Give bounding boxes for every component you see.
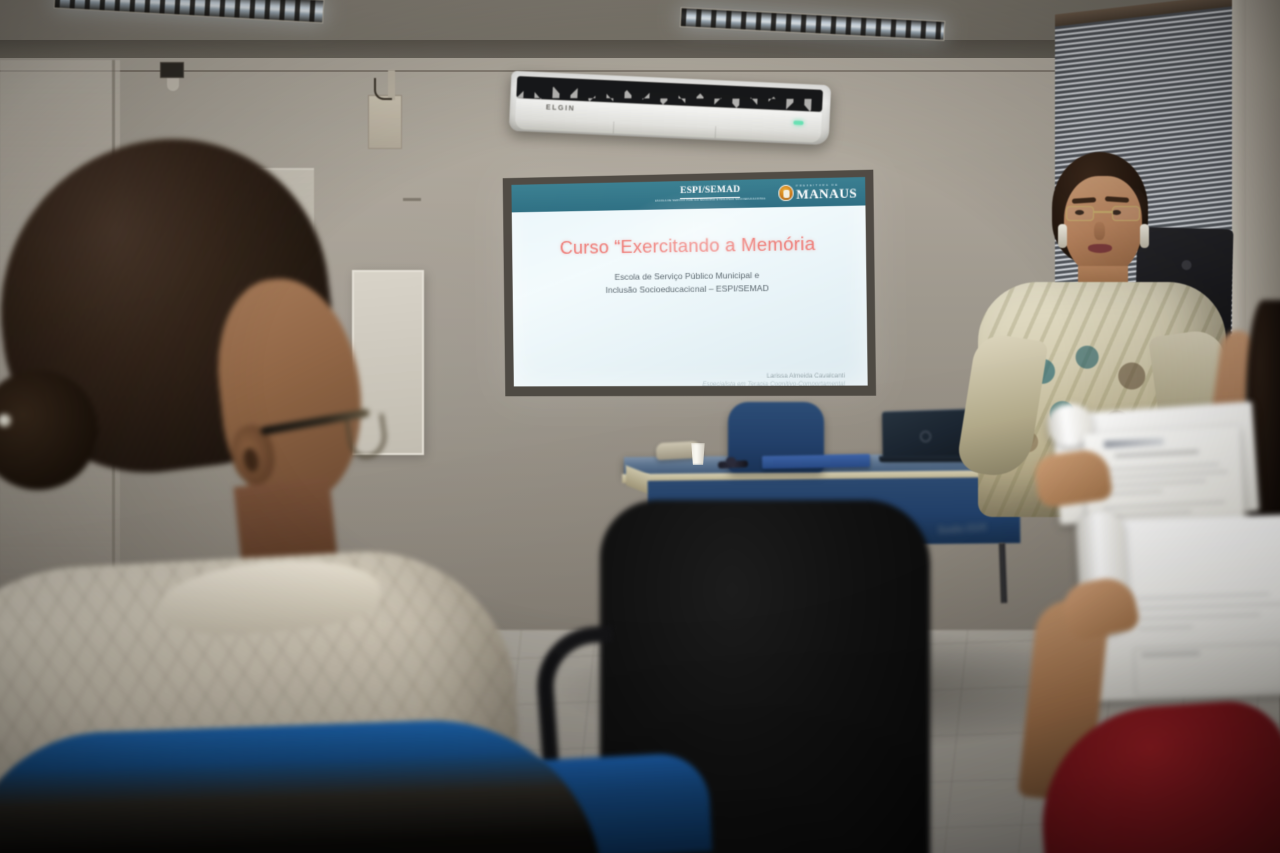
document-letterhead bbox=[1104, 438, 1164, 448]
document-text-line bbox=[1139, 626, 1193, 630]
wall-sensor-icon bbox=[160, 62, 184, 78]
slide-body: Curso “Exercitando a Memória Escola de S… bbox=[512, 232, 868, 387]
presenter-mouth bbox=[1088, 244, 1112, 253]
manaus-logo-text-wrap: PREFEITURA DE MANAUS bbox=[796, 183, 857, 201]
document-text-line bbox=[1103, 490, 1163, 495]
slide-subtitle: Escola de Serviço Público Municipal e In… bbox=[528, 268, 850, 298]
ac-brand-label: ELGIN bbox=[546, 104, 576, 112]
attendee-face-profile bbox=[209, 271, 372, 509]
slide-subtitle-line-2: Inclusão Socioeducacional – ESPI/SEMAD bbox=[528, 281, 850, 298]
marker-cap bbox=[726, 457, 736, 465]
document-text-line bbox=[1138, 593, 1270, 600]
eyeglass-lens bbox=[1066, 206, 1094, 221]
slide-title: Curso “Exercitando a Memória bbox=[527, 232, 849, 259]
chair-inventory-mark: Tombo 0326 bbox=[937, 520, 1009, 559]
document-text-line bbox=[1138, 613, 1260, 619]
eyeglass-lens bbox=[1112, 206, 1140, 221]
presentation-slide: ESPI/SEMAD ESCOLA DE SERVICO PUBLICO MUN… bbox=[511, 177, 867, 386]
photo-scene: ELGIN ESPI/SEMAD ESCOLA DE SERVICO PUBLI… bbox=[0, 0, 1280, 853]
eyeglass-bridge bbox=[1094, 211, 1112, 213]
manaus-logo-text: MANAUS bbox=[796, 187, 857, 201]
document-heading-line bbox=[1115, 450, 1199, 457]
document-text-line bbox=[1138, 603, 1280, 610]
document-text-line bbox=[1103, 501, 1225, 509]
espi-semad-logo: ESPI/SEMAD ESCOLA DE SERVICO PUBLICO MUN… bbox=[655, 185, 766, 203]
espi-logo-text: ESPI/SEMAD bbox=[680, 186, 740, 199]
manaus-logo: PREFEITURA DE MANAUS bbox=[778, 183, 857, 202]
wall-wire bbox=[374, 78, 392, 100]
hand-holding-papers bbox=[1033, 447, 1114, 509]
document-form-box bbox=[1133, 643, 1280, 696]
projection-screen: ESPI/SEMAD ESCOLA DE SERVICO PUBLICO MUN… bbox=[503, 170, 876, 397]
slide-header-band: ESPI/SEMAD ESCOLA DE SERVICO PUBLICO MUN… bbox=[511, 177, 865, 212]
dell-logo-icon bbox=[920, 431, 931, 442]
slide-author-role: Especialista em Terapia Cognitivo-Compor… bbox=[702, 381, 845, 387]
document-text-line bbox=[1102, 471, 1228, 480]
blue-folder bbox=[762, 454, 870, 469]
ac-status-led bbox=[793, 121, 803, 125]
earring-icon bbox=[1140, 224, 1149, 248]
espi-logo-subline: ESCOLA DE SERVICO PUBLICO MUNICIPAL E IN… bbox=[655, 199, 766, 204]
document-text-line bbox=[1101, 463, 1219, 471]
coat-of-arms-icon bbox=[778, 185, 793, 201]
slide-author-block: Larissa Almeida Cavalcanti Especialista … bbox=[702, 371, 845, 386]
earring-icon bbox=[1058, 224, 1067, 248]
eyeglasses-icon bbox=[1066, 206, 1140, 221]
presenter-nose bbox=[1094, 222, 1105, 240]
slide-author-name: Larissa Almeida Cavalcanti bbox=[702, 371, 845, 381]
document-text-line bbox=[1102, 480, 1206, 487]
